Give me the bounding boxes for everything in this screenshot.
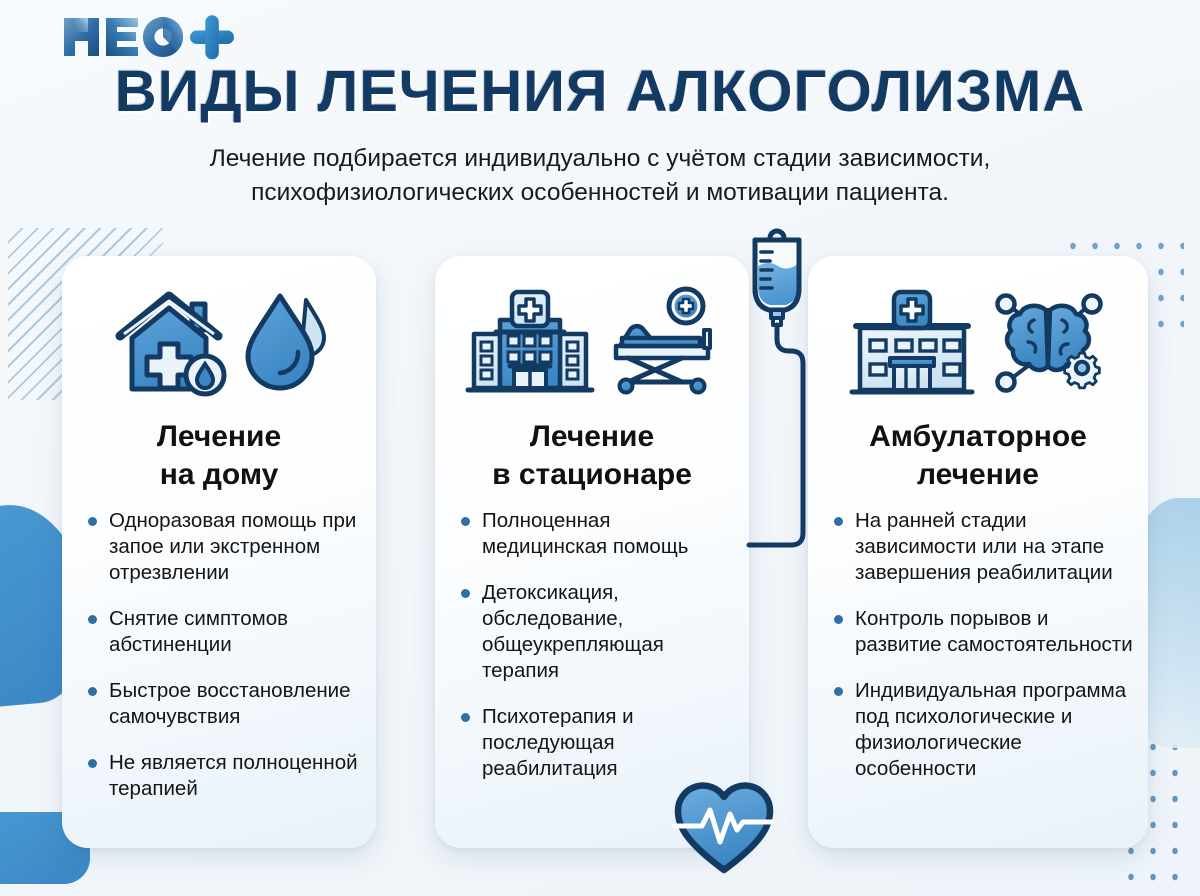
heartbeat-heart-icon [672, 778, 776, 876]
card-outpatient-title: Амбулаторное лечение [822, 418, 1134, 494]
card-outpatient-treatment[interactable]: Амбулаторное лечение На ранней стадии за… [808, 256, 1148, 848]
list-item: Индивидуальная программа под психологиче… [832, 678, 1140, 782]
list-item: Быстрое восстановление самочувствия [86, 678, 362, 730]
card-inpatient-title-line-2: в стационаре [449, 456, 735, 494]
card-home-treatment[interactable]: Лечение на дому Одноразовая помощь при з… [62, 256, 376, 848]
card-home-bullets: Одноразовая помощь при запое или экстрен… [86, 508, 362, 822]
water-drop-icon [242, 286, 328, 398]
list-item: Контроль порывов и развитие самостоятель… [832, 606, 1140, 658]
card-home-icons [62, 280, 376, 404]
list-item: Снятие симптомов абстиненции [86, 606, 362, 658]
clinic-building-icon [848, 286, 976, 398]
card-outpatient-icons [808, 280, 1148, 404]
hospital-bed-icon [608, 286, 718, 398]
card-inpatient-icons [435, 280, 749, 404]
list-item: Не является полноценной терапией [86, 750, 362, 802]
card-outpatient-title-line-2: лечение [822, 456, 1134, 494]
list-item: На ранней стадии зависимости или на этап… [832, 508, 1140, 586]
card-home-title-line-1: Лечение [157, 420, 281, 453]
brain-gear-icon [990, 286, 1108, 398]
subtitle-line-2: психофизиологических особенностей и моти… [90, 176, 1110, 210]
infographic-page: ВИДЫ ЛЕЧЕНИЯ АЛКОГОЛИЗМА Лечение подбира… [0, 0, 1200, 896]
list-item: Полноценная медицинская помощь [459, 508, 735, 560]
card-inpatient-bullets: Полноценная медицинская помощь Детоксика… [459, 508, 735, 802]
card-home-title: Лечение на дому [76, 418, 362, 494]
subtitle-line-1: Лечение подбирается индивидуально с учёт… [210, 145, 991, 172]
hospital-building-icon [466, 286, 594, 398]
page-subtitle: Лечение подбирается индивидуально с учёт… [90, 142, 1110, 210]
treatment-cards: Лечение на дому Одноразовая помощь при з… [0, 256, 1200, 866]
home-medical-icon [110, 286, 228, 398]
neo-plus-logo [62, 14, 244, 60]
list-item: Психотерапия и последующая реабилитация [459, 704, 735, 782]
card-outpatient-title-line-1: Амбулаторное [869, 420, 1087, 453]
card-home-title-line-2: на дому [76, 456, 362, 494]
card-inpatient-title-line-1: Лечение [530, 420, 654, 453]
card-outpatient-bullets: На ранней стадии зависимости или на этап… [832, 508, 1140, 802]
card-inpatient-treatment[interactable]: Лечение в стационаре Полноценная медицин… [435, 256, 749, 848]
iv-drip-icon [737, 228, 817, 568]
list-item: Одноразовая помощь при запое или экстрен… [86, 508, 362, 586]
page-title: ВИДЫ ЛЕЧЕНИЯ АЛКОГОЛИЗМА [0, 58, 1200, 125]
card-inpatient-title: Лечение в стационаре [449, 418, 735, 494]
list-item: Детоксикация, обследование, общеукрепляю… [459, 580, 735, 684]
